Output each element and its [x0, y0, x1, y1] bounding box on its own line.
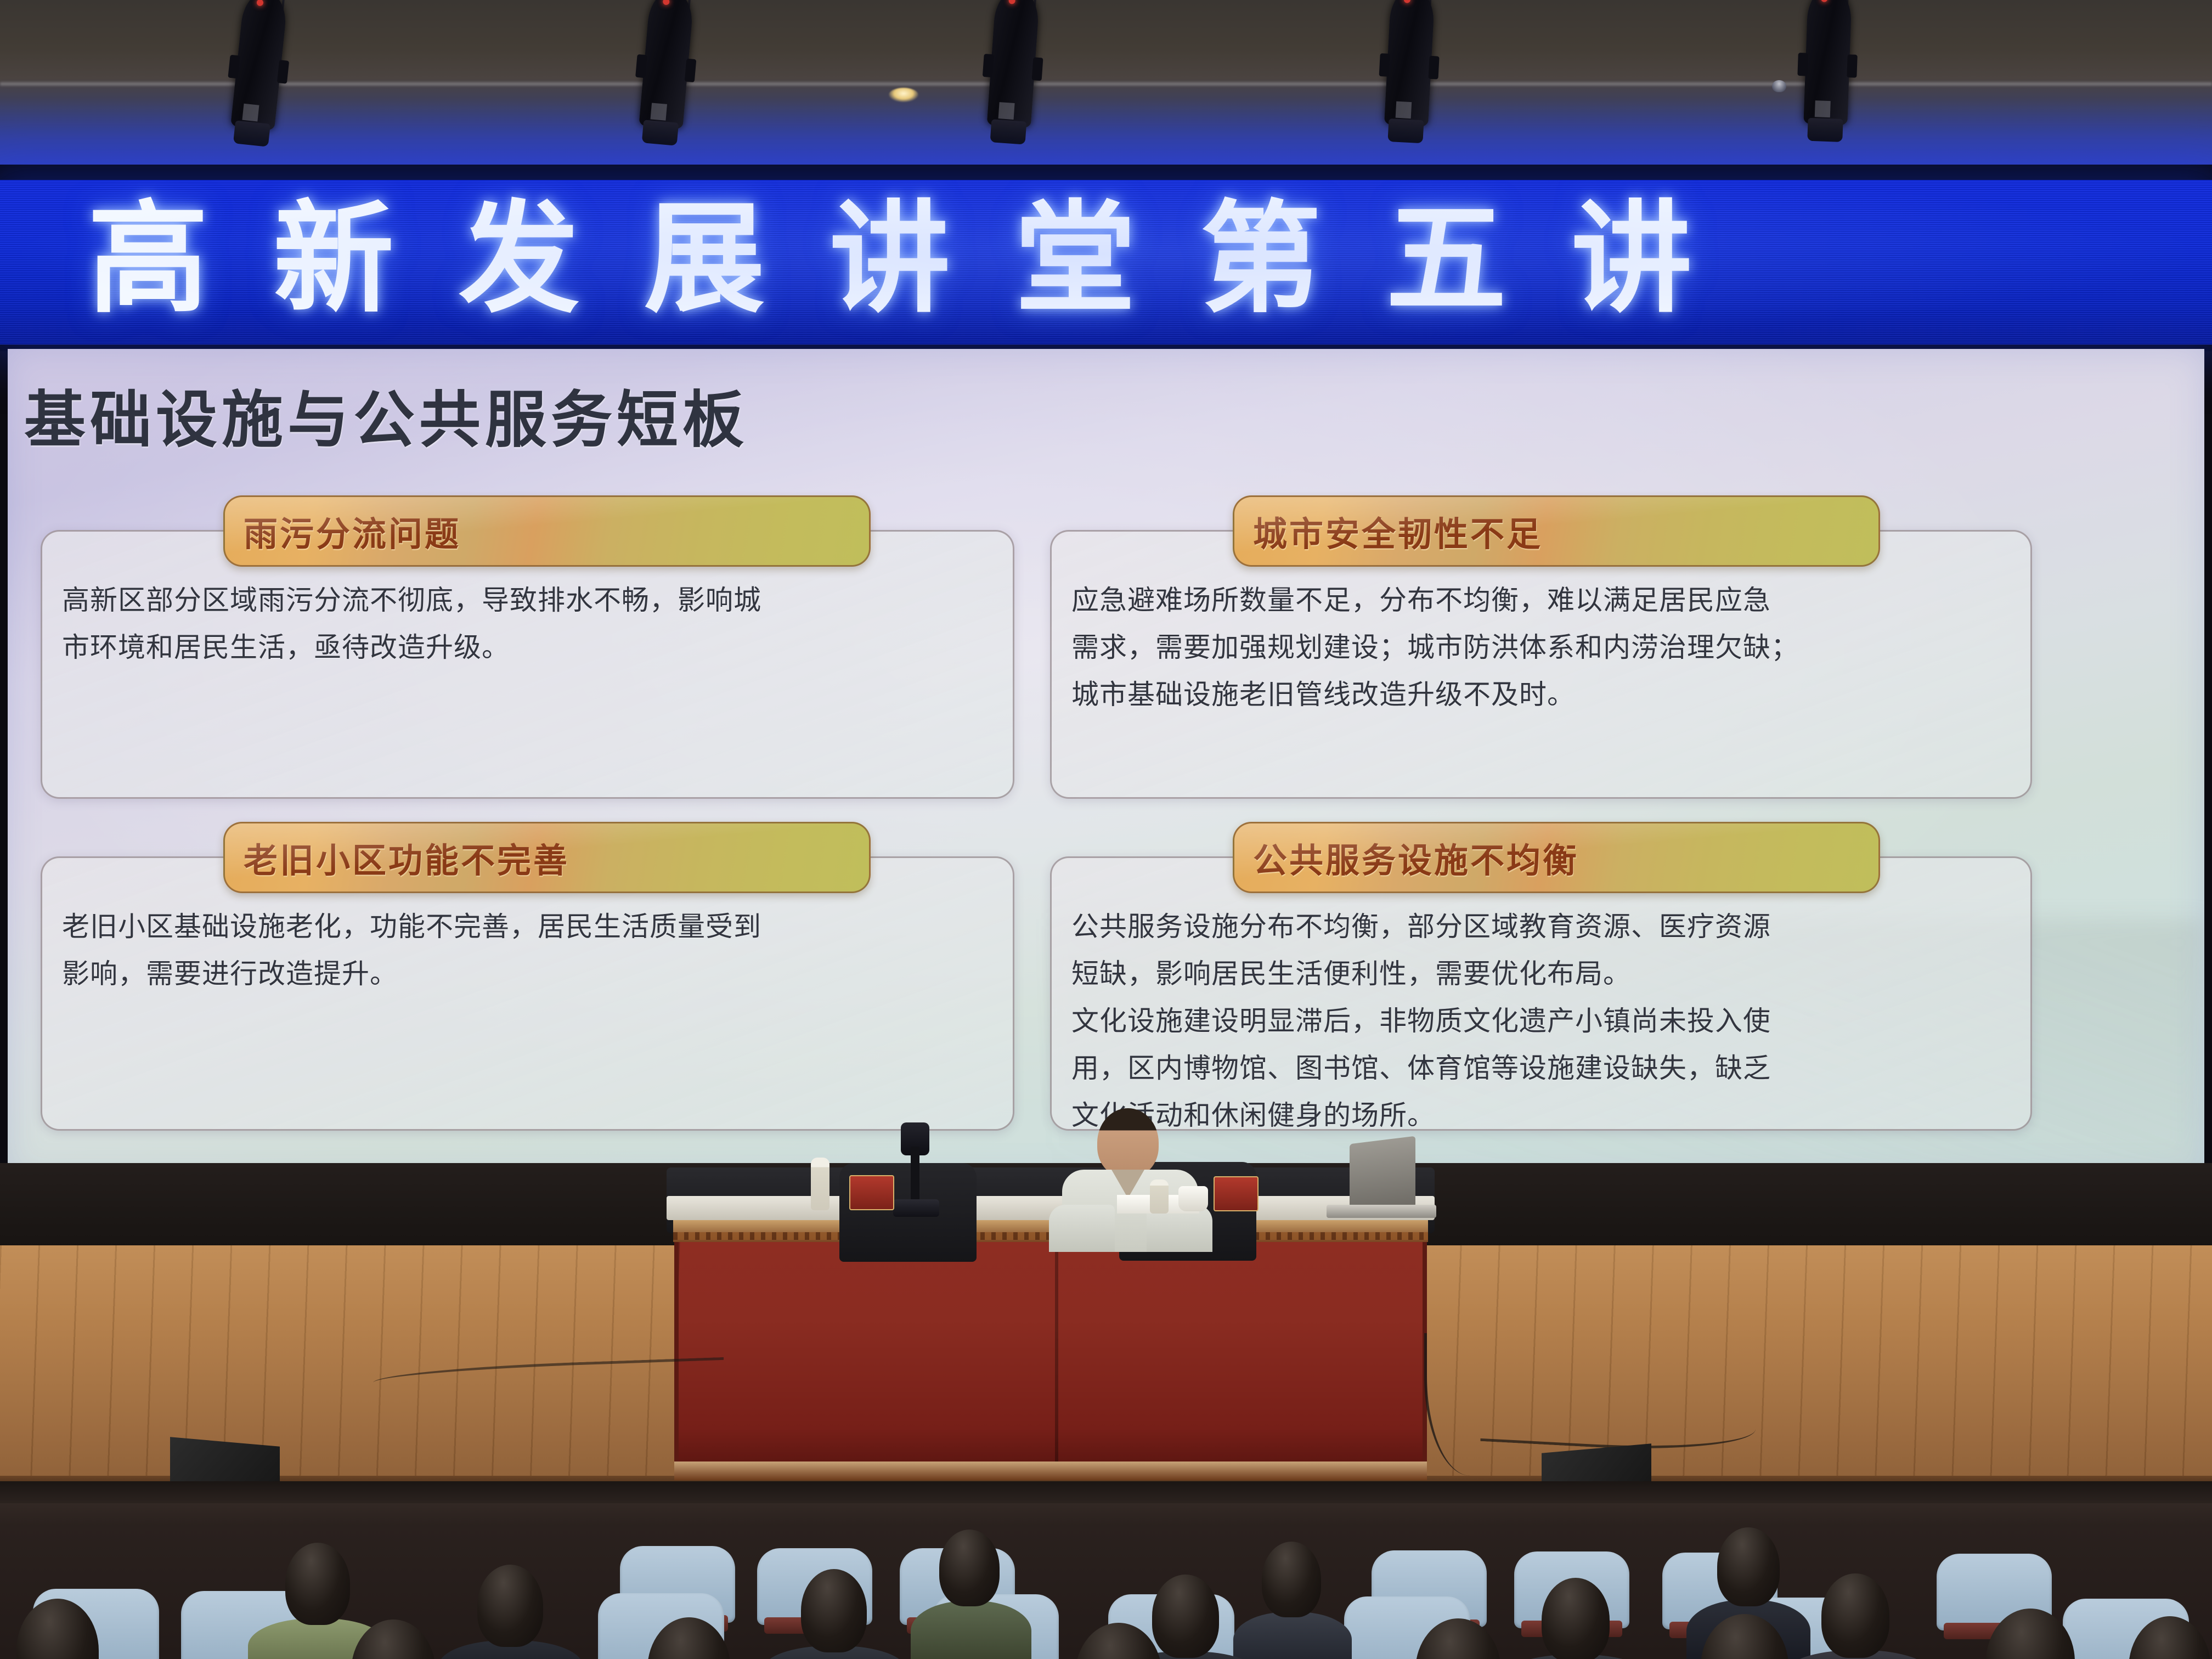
card-body-line: 文化活动和休闲健身的场所。: [1071, 1092, 2011, 1139]
water-bottle: [1150, 1180, 1169, 1214]
slide-card-rain-sewage: 雨污分流问题 高新区部分区域雨污分流不彻底，导致排水不畅，影响城 市环境和居民生…: [41, 530, 1014, 799]
projection-screen: 基础设施与公共服务短板 雨污分流问题 高新区部分区域雨污分流不彻底，导致排水不畅…: [8, 349, 2204, 1177]
audience-head: [1152, 1575, 1219, 1658]
card-body-text: 老旧小区基础设施老化，功能不完善，居民生活质量受到 影响，需要进行改造提升。: [62, 903, 993, 997]
card-header-label: 公共服务设施不均衡: [1253, 833, 1579, 882]
speaker-person: [1059, 1108, 1201, 1245]
led-char: 讲: [1571, 190, 1692, 327]
card-header-banner: 老旧小区功能不完善: [223, 822, 871, 893]
card-header-banner: 公共服务设施不均衡: [1233, 822, 1880, 893]
ceiling-downlight-icon: [889, 88, 918, 102]
speaker-arm-left: [1049, 1205, 1115, 1252]
led-char: 新: [273, 190, 394, 327]
ceiling-sensor-icon: [1772, 80, 1786, 92]
card-body-line: 城市基础设施老旧管线改造升级不及时。: [1071, 671, 2011, 718]
stage-spotlight-icon: [1379, 0, 1438, 155]
audience-shoulders: [1233, 1612, 1352, 1659]
card-body-text: 应急避难场所数量不足，分布不均衡，难以满足居民应急 需求，需要加强规划建设；城市…: [1071, 577, 2011, 718]
floor-shadow: [0, 1481, 2212, 1503]
card-header-label: 雨污分流问题: [244, 506, 461, 556]
audience-head: [477, 1565, 543, 1647]
ceiling-seam: [0, 82, 2212, 86]
card-header-label: 老旧小区功能不完善: [244, 833, 569, 882]
card-body-line: 短缺，影响居民生活便利性，需要优化布局。: [1071, 950, 2011, 997]
led-char: 第: [1200, 190, 1321, 327]
card-header-label: 城市安全韧性不足: [1253, 506, 1543, 556]
led-char: 高: [88, 190, 208, 327]
audience-head: [801, 1569, 867, 1652]
slide-card-old-neighborhoods: 老旧小区功能不完善 老旧小区基础设施老化，功能不完善，居民生活质量受到 影响，需…: [41, 856, 1014, 1131]
audience-head: [285, 1543, 350, 1625]
card-body-line: 公共服务设施分布不均衡，部分区域教育资源、医疗资源: [1071, 903, 2011, 950]
audience-head: [1717, 1527, 1780, 1606]
slide-card-public-services: 公共服务设施不均衡 公共服务设施分布不均衡，部分区域教育资源、医疗资源 短缺，影…: [1050, 856, 2032, 1131]
led-char: 展: [644, 190, 765, 327]
name-card: [1214, 1176, 1259, 1211]
card-body-line: 用，区内博物馆、图书馆、体育馆等设施建设缺失，缺乏: [1071, 1045, 2011, 1092]
tea-cup: [1178, 1186, 1208, 1211]
ceiling-glow: [0, 99, 2212, 176]
audience-head: [1542, 1578, 1610, 1659]
card-header-banner: 城市安全韧性不足: [1233, 495, 1880, 567]
name-card: [849, 1175, 894, 1210]
led-banner-text: 高 新 发 展 讲 堂 第 五 讲: [88, 190, 2118, 327]
card-body-text: 公共服务设施分布不均衡，部分区域教育资源、医疗资源 短缺，影响居民生活便利性，需…: [1071, 903, 2011, 1139]
audience-head: [1262, 1542, 1321, 1617]
card-body-line: 应急避难场所数量不足，分布不均衡，难以满足居民应急: [1071, 577, 2011, 624]
speaker-head: [1097, 1108, 1159, 1177]
microphone-base: [893, 1199, 939, 1217]
card-body-line: 影响，需要进行改造提升。: [62, 950, 993, 997]
led-banner: 高 新 发 展 讲 堂 第 五 讲: [0, 180, 2212, 345]
laptop-base: [1327, 1205, 1436, 1218]
slide-card-urban-safety: 城市安全韧性不足 应急避难场所数量不足，分布不均衡，难以满足居民应急 需求，需要…: [1050, 530, 2032, 799]
audience-head: [1821, 1573, 1889, 1658]
led-char: 五: [1386, 190, 1506, 327]
card-header-banner: 雨污分流问题: [223, 495, 871, 567]
audience-area: [0, 1481, 2212, 1659]
auditorium-photo: 高 新 发 展 讲 堂 第 五 讲 基础设施与公共服务短板 雨污分流问题 高新区…: [0, 0, 2212, 1659]
card-body-line: 高新区部分区域雨污分流不彻底，导致排水不畅，影响城: [62, 577, 993, 624]
card-body-text: 高新区部分区域雨污分流不彻底，导致排水不畅，影响城 市环境和居民生活，亟待改造升…: [62, 577, 993, 671]
laptop-screen: [1350, 1136, 1415, 1216]
ceiling: [0, 0, 2212, 174]
desk-base-molding: [674, 1462, 1427, 1480]
card-body-line: 市环境和居民生活，亟待改造升级。: [62, 624, 993, 671]
card-body-line: 文化设施建设明显滞后，非物质文化遗产小镇尚未投入使: [1071, 997, 2011, 1045]
card-body-line: 需求，需要加强规划建设；城市防洪体系和内涝治理欠缺；: [1071, 624, 2011, 671]
led-char: 发: [459, 190, 579, 327]
led-char: 堂: [1015, 190, 1136, 327]
audience-shoulders: [911, 1601, 1031, 1659]
stage-spotlight-icon: [1799, 0, 1855, 153]
card-body-line: 老旧小区基础设施老化，功能不完善，居民生活质量受到: [62, 903, 993, 950]
desk-front-panel: [674, 1242, 1427, 1462]
water-bottle: [811, 1158, 830, 1210]
audience-head: [939, 1530, 1000, 1606]
page-title: 基础设施与公共服务短板: [24, 386, 748, 454]
led-char: 讲: [830, 190, 950, 327]
